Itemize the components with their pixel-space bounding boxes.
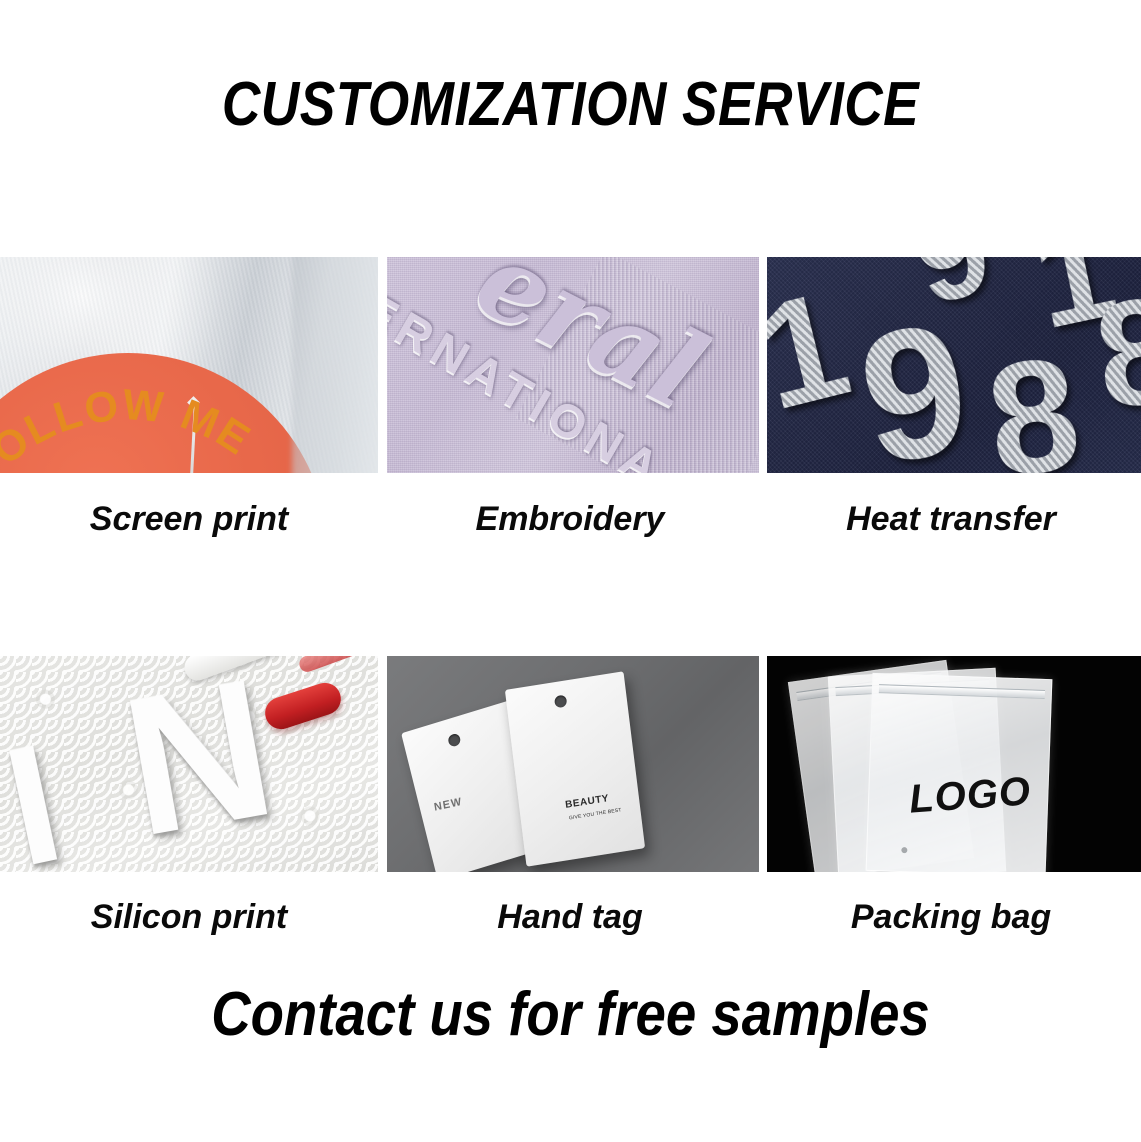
silicon-print-photo: I N (0, 656, 378, 872)
gallery-item-silicon-print[interactable]: I N Silicon print (0, 656, 378, 934)
gallery-item-heat-transfer[interactable]: 9 1 8 1 9 8 Heat transfer (762, 257, 1140, 536)
transfer-glyph: 8 (981, 340, 1087, 473)
gallery-item-screen-print[interactable]: N'T FOLLOW ME Screen print (0, 257, 378, 536)
hang-tag-right: BEAUTY GIVE YOU THE BEST (505, 671, 645, 867)
zip-seal-shape (879, 684, 1045, 699)
service-gallery-grid: N'T FOLLOW ME Screen print ERNATIONA era… (0, 257, 1141, 934)
bag-logo-text: LOGO (908, 769, 1033, 822)
page-title: CUSTOMIZATION SERVICE (80, 74, 1061, 136)
gallery-item-label: Heat transfer (762, 473, 1140, 536)
gallery-item-label: Packing bag (762, 872, 1140, 934)
gallery-item-label: Screen print (0, 473, 378, 536)
gallery-item-label: Embroidery (381, 473, 759, 536)
screen-print-photo: N'T FOLLOW ME (0, 257, 378, 473)
svg-text:N'T FOLLOW ME: N'T FOLLOW ME (0, 381, 259, 473)
gallery-item-label: Hand tag (381, 872, 759, 934)
contact-cta: Contact us for free samples (68, 984, 1072, 1046)
shirt-sleeve-highlight (292, 257, 378, 473)
hand-tag-photo: NEW BEAUTY GIVE YOU THE BEST (387, 656, 759, 872)
air-vent-hole-icon (901, 847, 907, 853)
customization-service-banner: CUSTOMIZATION SERVICE N'T FOLLOW ME (0, 0, 1141, 1142)
packing-bag-photo: LOGO (767, 656, 1141, 872)
tag-text-beauty: BEAUTY (565, 793, 610, 811)
embroidery-photo: ERNATIONA eral (387, 257, 759, 473)
tag-hole-icon (447, 733, 461, 748)
zip-bag-front: LOGO (866, 673, 1053, 872)
screen-print-arc-text: N'T FOLLOW ME (0, 381, 259, 473)
silicone-glyph: N (114, 659, 284, 857)
tag-hole-icon (554, 695, 567, 709)
tag-text-tagline: GIVE YOU THE BEST (569, 807, 622, 821)
gallery-item-label: Silicon print (0, 872, 378, 934)
gallery-item-hand-tag[interactable]: NEW BEAUTY GIVE YOU THE BEST Hand tag (381, 656, 759, 934)
tag-text-new: NEW (433, 796, 463, 814)
gallery-item-embroidery[interactable]: ERNATIONA eral Embroidery (381, 257, 759, 536)
arc-text-graphic: N'T FOLLOW ME (0, 277, 340, 473)
gallery-item-packing-bag[interactable]: LOGO Packing bag (762, 656, 1140, 934)
heat-transfer-photo: 9 1 8 1 9 8 (767, 257, 1141, 473)
